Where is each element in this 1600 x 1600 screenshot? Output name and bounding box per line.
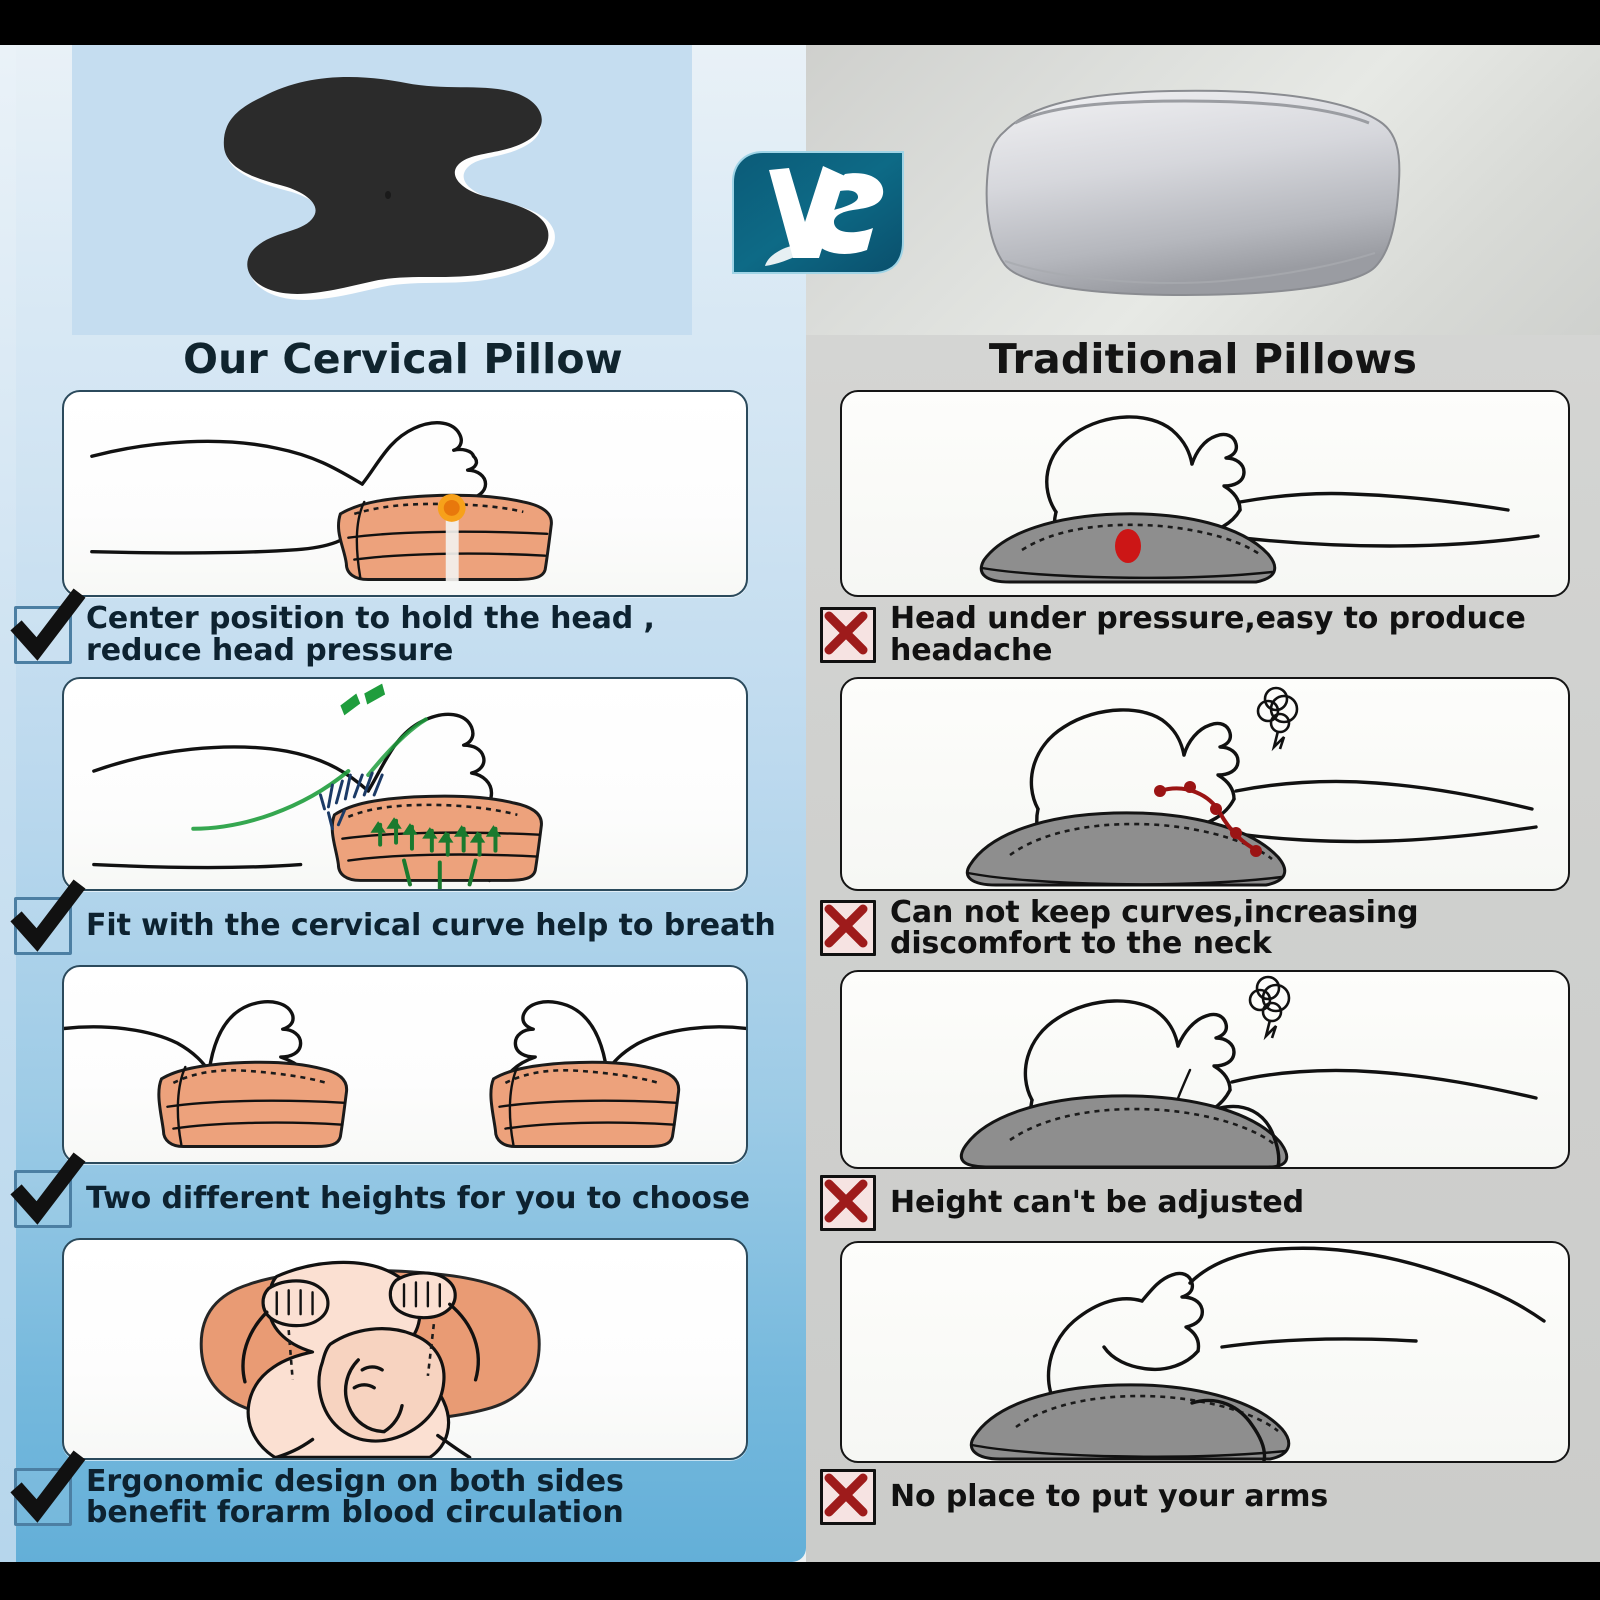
- right-illustration-3: [840, 970, 1570, 1169]
- left-illustration-3: [62, 965, 748, 1164]
- right-illustration-4: [840, 1241, 1570, 1463]
- check-icon: [14, 897, 72, 955]
- right-caption-text-1: Head under pressure,easy to produce head…: [890, 603, 1600, 667]
- infographic-root: Our Cervical Pillow: [0, 0, 1600, 1600]
- left-caption-row-1: Center position to hold the head , reduc…: [0, 597, 806, 673]
- right-column-traditional-pillows: Traditional Pillows: [806, 45, 1600, 1562]
- left-caption-text-1: Center position to hold the head , reduc…: [86, 603, 655, 667]
- right-caption-row-3: Height can't be adjusted: [806, 1169, 1600, 1237]
- check-icon: [14, 606, 72, 664]
- left-illustration-1: [62, 390, 748, 597]
- left-caption-text-2: Fit with the cervical curve help to brea…: [86, 910, 776, 942]
- left-caption-row-3: Two different heights for you to choose: [0, 1164, 806, 1234]
- right-caption-row-4: No place to put your arms: [806, 1463, 1600, 1541]
- right-title: Traditional Pillows: [806, 335, 1600, 380]
- left-illustration-4: [62, 1238, 748, 1460]
- cross-icon: [820, 1175, 876, 1231]
- right-caption-text-3: Height can't be adjusted: [890, 1187, 1304, 1219]
- left-caption-row-2: Fit with the cervical curve help to brea…: [0, 891, 806, 961]
- cervical-foam-pillow-photo: [150, 63, 620, 319]
- right-product-photo: [806, 45, 1600, 335]
- left-title: Our Cervical Pillow: [0, 335, 806, 380]
- content-band: Our Cervical Pillow: [0, 45, 1600, 1562]
- left-rows: Center position to hold the head , reduc…: [0, 390, 806, 1545]
- right-caption-text-4: No place to put your arms: [890, 1481, 1328, 1513]
- cross-icon: [820, 900, 876, 956]
- right-illustration-2: [840, 677, 1570, 891]
- left-caption-text-3: Two different heights for you to choose: [86, 1183, 750, 1215]
- vs-badge: [727, 146, 907, 279]
- left-caption-row-4: Ergonomic design on both sides benefit f…: [0, 1460, 806, 1546]
- right-rows: Head under pressure,easy to produce head…: [806, 390, 1600, 1541]
- left-column-cervical-pillow: Our Cervical Pillow: [0, 45, 806, 1562]
- left-product-photo: [0, 45, 806, 335]
- cross-icon: [820, 1469, 876, 1525]
- check-icon: [14, 1170, 72, 1228]
- traditional-white-pillow-photo: [971, 65, 1441, 315]
- cross-icon: [820, 607, 876, 663]
- check-icon: [14, 1468, 72, 1526]
- left-illustration-2: [62, 677, 748, 891]
- right-caption-row-1: Head under pressure,easy to produce head…: [806, 597, 1600, 673]
- right-caption-row-2: Can not keep curves,increasing discomfor…: [806, 891, 1600, 967]
- right-caption-text-2: Can not keep curves,increasing discomfor…: [890, 897, 1600, 961]
- right-illustration-1: [840, 390, 1570, 597]
- left-caption-text-4: Ergonomic design on both sides benefit f…: [86, 1466, 726, 1530]
